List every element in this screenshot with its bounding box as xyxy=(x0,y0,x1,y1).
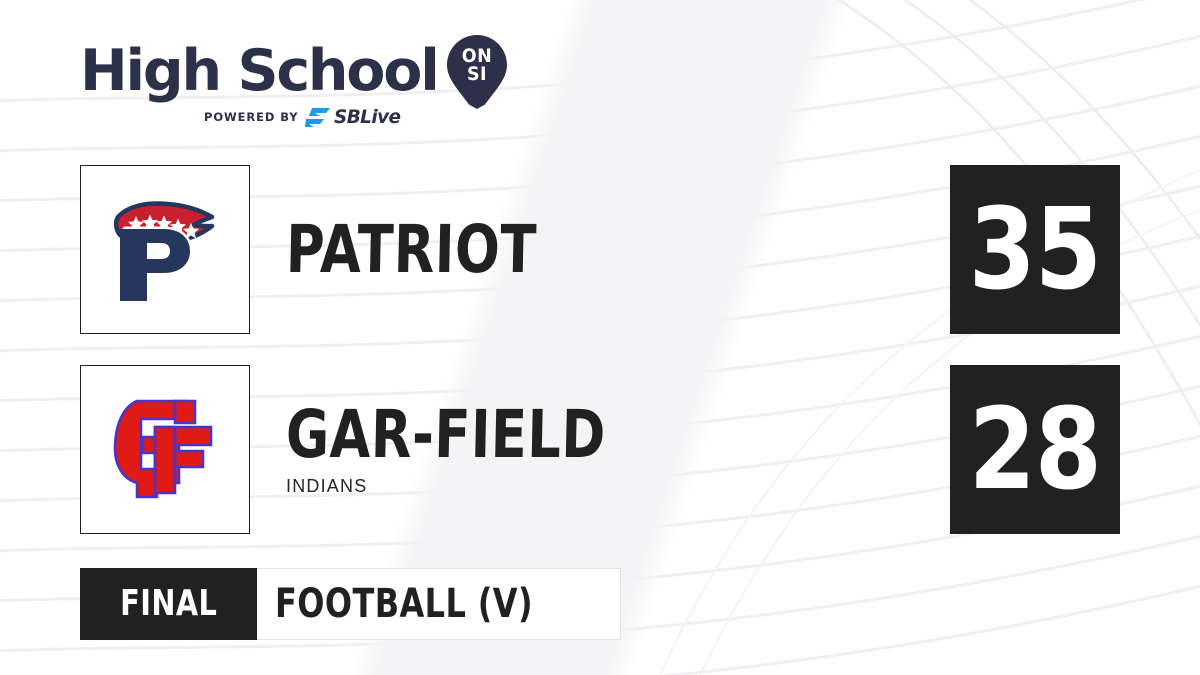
team-score-box: 35 xyxy=(950,165,1120,334)
sport-label-box: FOOTBALL (V) xyxy=(257,568,620,640)
status-badge: FINAL xyxy=(80,568,257,640)
team-name: PATRIOT xyxy=(285,218,537,282)
status-bar: FINAL FOOTBALL (V) xyxy=(80,568,621,640)
powered-by-label: POWERED BY xyxy=(204,110,298,124)
team-mascot: INDIANS xyxy=(286,475,686,497)
patriot-pennant-flag-p-logo xyxy=(106,195,224,305)
sblive-s-mark-icon xyxy=(305,107,331,128)
sport-label: FOOTBALL (V) xyxy=(275,584,533,624)
sblive-wordmark: SBLive xyxy=(335,106,401,128)
sblive-logo: SBLive xyxy=(305,106,401,128)
team-name: GAR-FIELD xyxy=(285,403,606,467)
team-name-block: GAR-FIELD INDIANS xyxy=(286,365,686,534)
team-score: 35 xyxy=(969,194,1101,306)
map-pin-icon: ON SI xyxy=(446,34,508,110)
pin-line-si: SI xyxy=(467,63,487,85)
map-pin-label: ON SI xyxy=(448,47,505,83)
status-badge-label: FINAL xyxy=(120,586,217,622)
brand-logo: High School ON SI POWERED BY SBLive xyxy=(80,32,510,130)
brand-wordmark-row: High School ON SI xyxy=(80,32,510,110)
brand-wordmark: High School xyxy=(80,42,438,100)
score-card-graphic: High School ON SI POWERED BY SBLive xyxy=(0,0,1200,675)
team-score-box: 28 xyxy=(950,365,1120,534)
gar-field-gf-monogram-logo xyxy=(111,397,219,503)
team-logo-box xyxy=(80,365,250,534)
team-name-block: PATRIOT xyxy=(286,165,599,334)
team-score: 28 xyxy=(969,394,1101,506)
team-logo-box xyxy=(80,165,250,334)
